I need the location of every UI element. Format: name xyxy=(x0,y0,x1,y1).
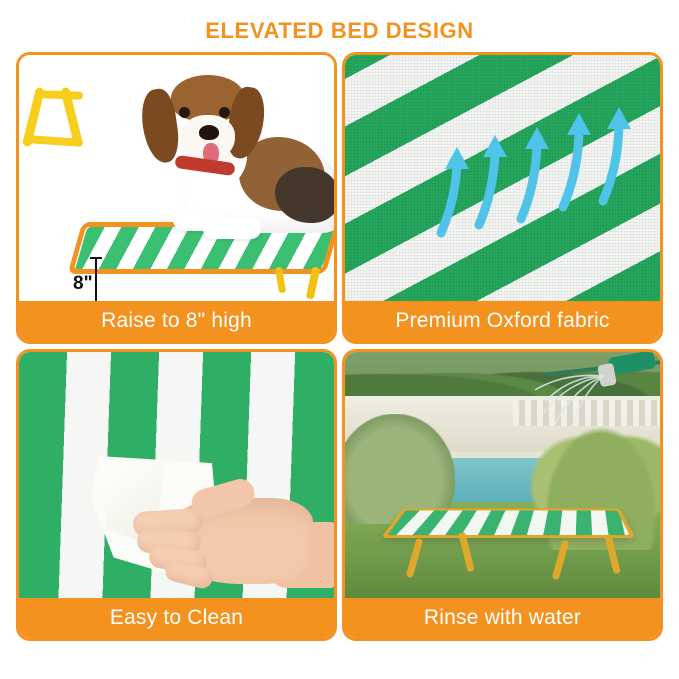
elevated-bed-outdoor xyxy=(397,502,627,594)
feature-grid: 8" Raise to 8" high xyxy=(16,52,663,652)
feature-card-rinse-water[interactable]: Rinse with water xyxy=(342,349,663,641)
garden-hose-nozzle-icon xyxy=(525,352,660,408)
image-oxford-fabric xyxy=(345,55,660,301)
caption-easy-clean: Easy to Clean xyxy=(19,598,334,638)
image-backyard-rinse xyxy=(345,352,660,598)
folding-leg-assembly xyxy=(25,87,97,153)
beagle-dog xyxy=(147,63,334,248)
feature-card-raise-height[interactable]: 8" Raise to 8" high xyxy=(16,52,337,344)
water-spray-icon xyxy=(525,358,635,438)
caption-rinse-water: Rinse with water xyxy=(345,598,660,638)
height-measure-line xyxy=(95,257,97,301)
feature-card-easy-clean[interactable]: Easy to Clean xyxy=(16,349,337,641)
airflow-arrows-icon xyxy=(345,55,660,301)
product-feature-collage: ELEVATED BED DESIGN xyxy=(0,0,679,679)
page-title: ELEVATED BED DESIGN xyxy=(0,18,679,44)
feature-card-oxford-fabric[interactable]: Premium Oxford fabric xyxy=(342,52,663,344)
height-measure-label: 8" xyxy=(73,273,93,295)
human-hand xyxy=(127,476,313,598)
image-wiping-fabric xyxy=(19,352,334,598)
image-dog-on-elevated-bed: 8" xyxy=(19,55,334,301)
caption-raise-height: Raise to 8" high xyxy=(19,301,334,341)
caption-oxford-fabric: Premium Oxford fabric xyxy=(345,301,660,341)
